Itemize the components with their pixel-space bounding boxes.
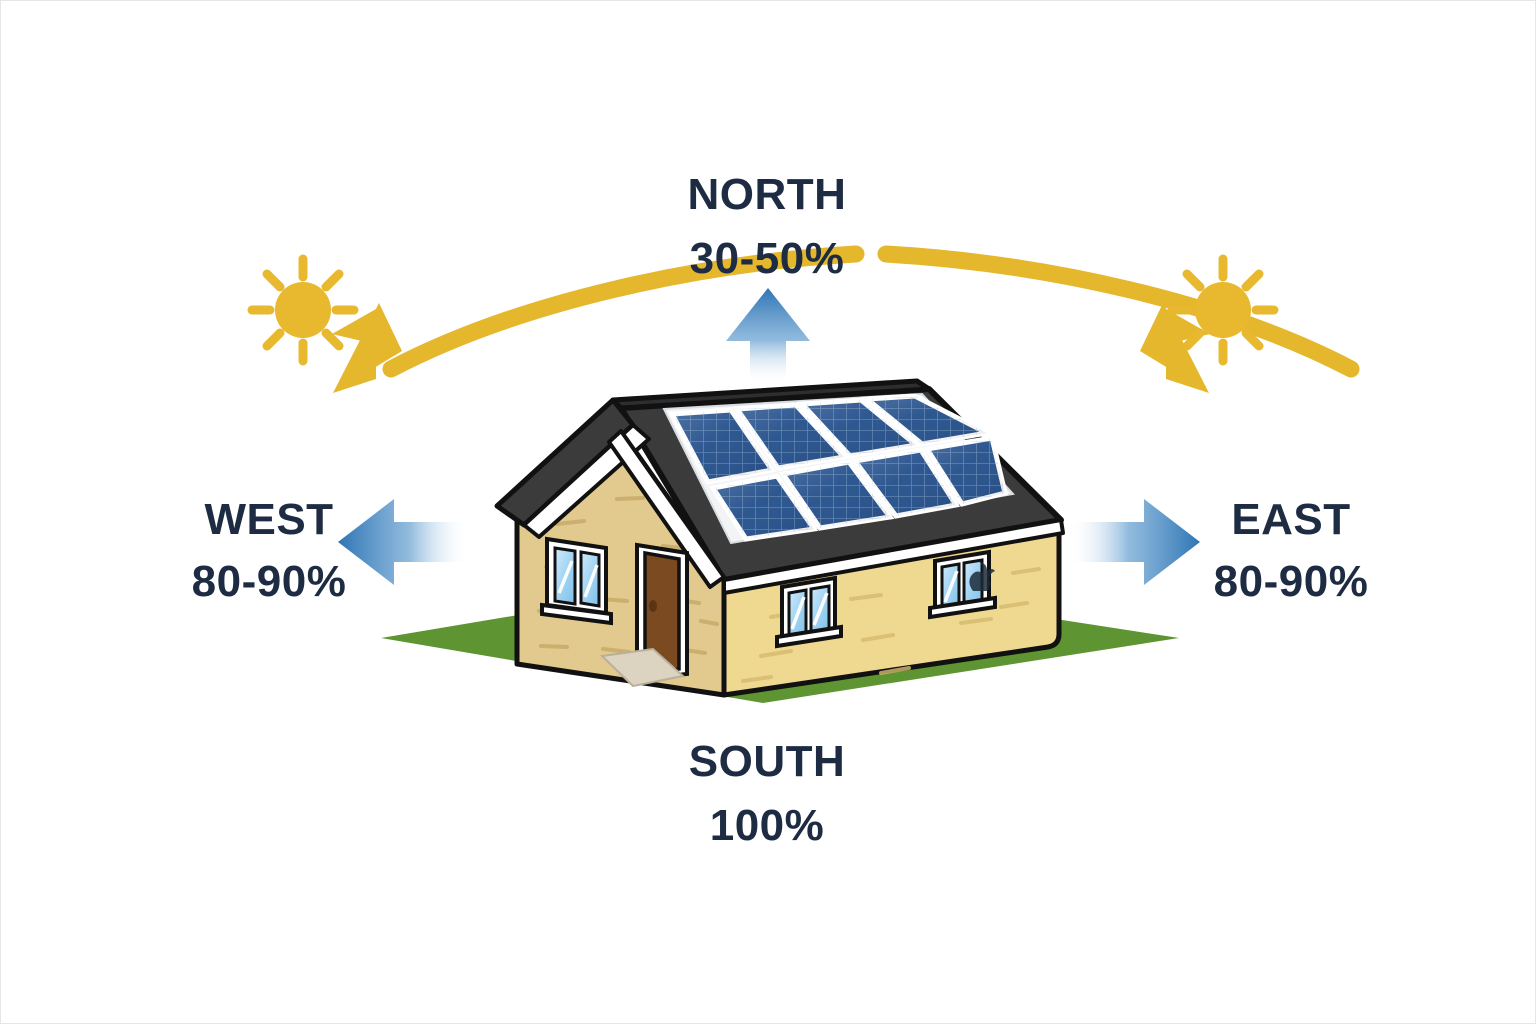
sun-icon-right <box>1172 259 1274 361</box>
sun-path-arc-right <box>886 254 1351 369</box>
arrow-up-icon[interactable] <box>726 288 810 384</box>
label-north: NORTH 30-50% <box>688 170 847 283</box>
north-value: 30-50% <box>690 234 845 283</box>
diagram-canvas: NORTH 30-50% SOUTH 100% WEST 80-90% EAST… <box>1 1 1536 1025</box>
east-value: 80-90% <box>1214 557 1369 606</box>
east-label: EAST <box>1231 495 1350 544</box>
window-side-left <box>777 578 841 646</box>
arrow-left-icon[interactable] <box>338 499 469 585</box>
sun-path-right-group <box>886 254 1351 393</box>
south-label: SOUTH <box>689 737 846 786</box>
arrow-right-icon[interactable] <box>1069 499 1200 585</box>
window-front <box>542 539 611 623</box>
north-label: NORTH <box>688 170 847 219</box>
house <box>497 381 1063 695</box>
west-label: WEST <box>204 495 333 544</box>
solar-orientation-diagram: NORTH 30-50% SOUTH 100% WEST 80-90% EAST… <box>0 0 1536 1024</box>
door-knob <box>649 600 657 612</box>
south-value: 100% <box>710 801 825 850</box>
sun-icon-left <box>252 259 354 361</box>
label-east: EAST 80-90% <box>1214 495 1369 606</box>
west-value: 80-90% <box>192 557 347 606</box>
window-side-right <box>930 552 995 617</box>
label-south: SOUTH 100% <box>689 737 846 850</box>
label-west: WEST 80-90% <box>192 495 347 606</box>
